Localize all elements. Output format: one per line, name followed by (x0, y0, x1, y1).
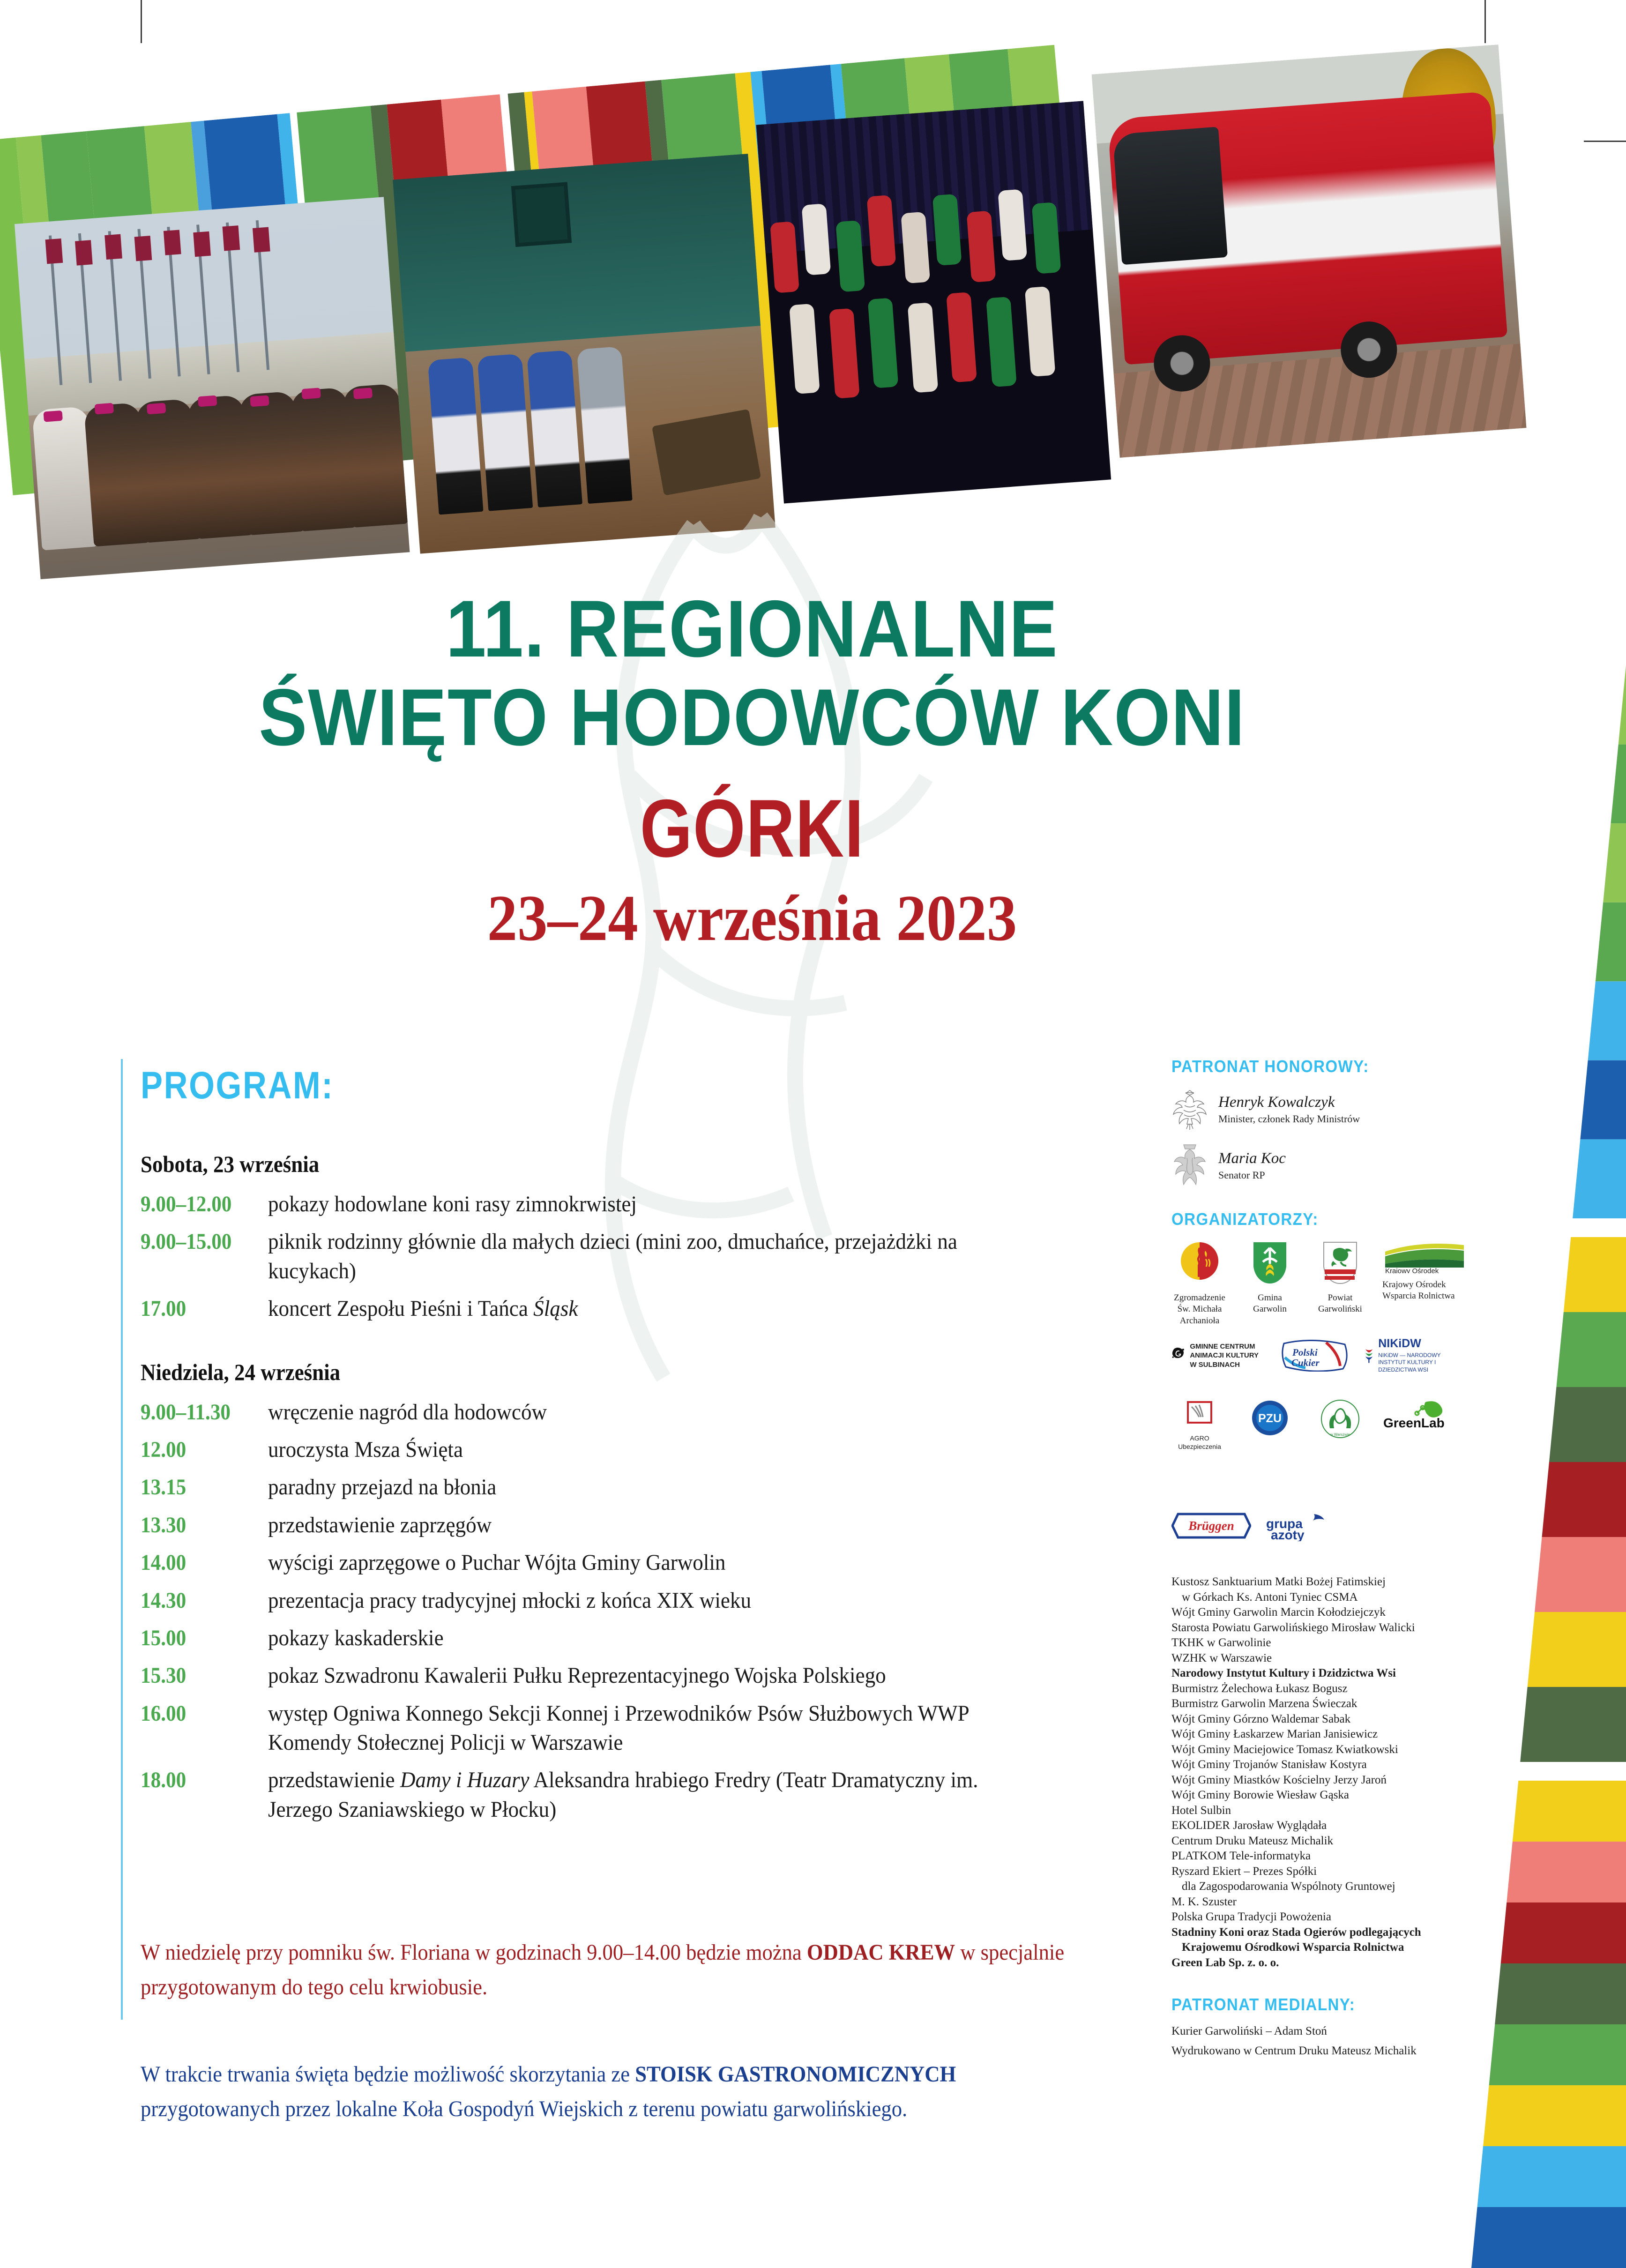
sponsor-item: Stadniny Koni oraz Stada Ogierów podlega… (1171, 1925, 1481, 1940)
polski-cukier-logo-icon: Polski Cukier (1279, 1337, 1350, 1372)
organizers-heading: ORGANIZATORZY: (1171, 1209, 1456, 1229)
wedge-stripe (1542, 1462, 1626, 1537)
program-time: 9.00–12.00 (141, 1191, 255, 1217)
patron-maria-koc: Maria Koc Senator RP (1171, 1140, 1481, 1191)
sponsor-item: Burmistrz Żelechowa Łukasz Bogusz (1171, 1681, 1481, 1697)
organizer-logo-kowr: Krajowy Ośrodek Krajowy Ośrodek Wsparcia… (1382, 1239, 1467, 1302)
wedge-stripe (1513, 1781, 1626, 1842)
pzu-logo-icon: PZU (1250, 1399, 1290, 1437)
patron-name: Maria Koc (1218, 1150, 1286, 1167)
sponsor-item: Polska Grupa Tradycji Powożenia (1171, 1910, 1481, 1925)
sponsor-item: Wójt Gminy Łaskarzew Marian Janisiewicz (1171, 1727, 1481, 1742)
organizer-logo-row-4: Brüggen Brüggen grupa azoty GRUPA AZOTY (1171, 1512, 1481, 1559)
program-text: przedstawienie Damy i Huzary Aleksandra … (268, 1766, 1038, 1824)
program-text: wręczenie nagród dla hodowców (268, 1398, 547, 1427)
program-text: koncert Zespołu Pieśni i Tańca Śląsk (268, 1294, 578, 1323)
program-time: 15.00 (141, 1625, 255, 1651)
wedge-stripe (1528, 1612, 1626, 1687)
organizer-logo-gmina-garwolin: GminaGarwolin (1242, 1239, 1298, 1315)
gastronomy-note: W trakcie trwania święta będzie możliwoś… (141, 2057, 1065, 2127)
program-time: 14.00 (141, 1550, 255, 1575)
svg-text:Polski: Polski (1292, 1347, 1318, 1358)
patron-role: Minister, członek Rady Ministrów (1218, 1113, 1360, 1125)
program-text: przedstawienie zaprzęgów (268, 1511, 492, 1540)
sponsor-item: Wójt Gminy Miastków Kościelny Jerzy Jaro… (1171, 1773, 1481, 1788)
sponsor-item: dla Zagospodarowania Wspólnoty Gruntowej (1171, 1879, 1481, 1895)
theatre-play-photo (393, 154, 776, 554)
program-time: 15.30 (141, 1663, 255, 1688)
organizer-logo-bruggen: Brüggen Brüggen (1171, 1512, 1251, 1557)
patron-henryk-kowalczyk: Henryk Kowalczyk Minister, członek Rady … (1171, 1087, 1481, 1132)
program-day-heading: Niedziela, 24 września (141, 1358, 992, 1386)
blood-donation-note: W niedzielę przy pomniku św. Floriana w … (141, 1935, 1065, 2005)
sponsor-item: M. K. Szuster (1171, 1895, 1481, 1910)
sponsor-item: TKHK w Garwolinie (1171, 1635, 1481, 1651)
organizer-logo-row-2: GMINNE CENTRUM ANIMACJI KULTURY W SULBIN… (1171, 1337, 1481, 1389)
sponsor-item: Green Lab Sp. z. o. o. (1171, 1955, 1481, 1971)
gastro-note-emphasis: STOISK GASTRONOMICZNYCH (635, 2062, 956, 2087)
wedge-stripe (1549, 1387, 1626, 1462)
organizer-caption: Krajowy Ośrodek Wsparcia Rolnictwa (1382, 1279, 1467, 1302)
program-time: 13.15 (141, 1474, 255, 1500)
wedge-stripe (1564, 1237, 1626, 1312)
program-row: 14.30prezentacja pracy tradycyjnej młock… (141, 1586, 1087, 1615)
blood-note-emphasis: ODDAC KREW (807, 1940, 955, 1965)
organizer-caption: NIKiDW — NARODOWY INSTYTUT KULTURY I DZI… (1378, 1352, 1462, 1373)
program-text: występ Ogniwa Konnego Sekcji Konnej i Pr… (268, 1699, 1038, 1758)
title-place: GÓRKI (135, 782, 1369, 876)
title-line-2: ŚWIĘTO HODOWCÓW KONI (75, 677, 1429, 759)
honorary-patronage-heading: PATRONAT HONOROWY: (1171, 1057, 1456, 1076)
gmina-garwolin-crest-icon (1250, 1239, 1290, 1286)
media-patronage-block: PATRONAT MEDIALNY: Kurier Garwoliński – … (1171, 1995, 1481, 2058)
program-row: 16.00występ Ogniwa Konnego Sekcji Konnej… (141, 1699, 1087, 1758)
wedge-stripe (1573, 1139, 1626, 1218)
wedge-stripe (1495, 1963, 1626, 2024)
organizer-caption: GMINNE CENTRUM ANIMACJI KULTURY W SULBIN… (1190, 1342, 1265, 1369)
folk-dance-ensemble-photo (756, 101, 1111, 503)
wedge-stripe (1580, 1060, 1626, 1140)
sponsor-item: EKOLIDER Jarosław Wyglądała (1171, 1818, 1481, 1834)
organizer-logo-michaelite: ZgromadzenieŚw. MichałaArchanioła (1171, 1239, 1228, 1327)
program-day-heading: Sobota, 23 września (141, 1150, 992, 1178)
agro-ubezpieczenia-logo-icon (1181, 1399, 1218, 1428)
sponsor-item: Kustosz Sanktuarium Matki Bożej Fatimski… (1171, 1574, 1481, 1590)
senate-eagle-icon (1171, 1140, 1208, 1191)
wedge-stripe (1596, 903, 1626, 982)
sponsor-item: Burmistrz Garwolin Marzena Świeczak (1171, 1696, 1481, 1712)
sponsor-item: Wójt Gminy Borowie Wiesław Gąska (1171, 1788, 1481, 1803)
organizer-caption: PowiatGarwoliński (1312, 1292, 1368, 1315)
organizer-logo-nikidw: NIKiDW NIKiDW — NARODOWY INSTYTUT KULTUR… (1364, 1337, 1462, 1373)
organizer-logo-polski-cukier: Polski Cukier Polski Cukier (1279, 1337, 1350, 1389)
bruggen-logo-icon: Brüggen (1171, 1512, 1251, 1539)
sponsor-item: Ryszard Ekiert – Prezes Spółki (1171, 1864, 1481, 1880)
wedge-stripe (1611, 745, 1626, 824)
organizer-caption: GminaGarwolin (1242, 1292, 1298, 1315)
sponsor-list: Kustosz Sanktuarium Matki Bożej Fatimski… (1171, 1574, 1481, 1970)
program-time: 12.00 (141, 1437, 255, 1462)
program-time: 13.30 (141, 1512, 255, 1538)
program-time: 16.00 (141, 1701, 255, 1726)
sponsor-item: Narodowy Instytut Kultury i Dzidzictwa W… (1171, 1666, 1481, 1681)
svg-text:azoty: azoty (1271, 1528, 1305, 1541)
program-row: 9.00–15.00piknik rodzinny głównie dla ma… (141, 1227, 1087, 1286)
organizer-logo-greenlab: GreenLab GreenLab (1382, 1399, 1453, 1447)
sponsor-item: WZHK w Warszawie (1171, 1651, 1481, 1666)
program-text: prezentacja pracy tradycyjnej młocki z k… (268, 1586, 751, 1615)
program-row: 12.00uroczysta Msza Święta (141, 1435, 1087, 1464)
program-time: 18.00 (141, 1767, 255, 1793)
media-item: Wydrukowano w Centrum Druku Mateusz Mich… (1171, 2044, 1481, 2058)
michaelite-crest-icon (1179, 1239, 1220, 1286)
svg-text:Brüggen: Brüggen (1188, 1519, 1234, 1533)
media-item: Kurier Garwoliński – Adam Stoń (1171, 2025, 1481, 2038)
svg-text:GreenLab: GreenLab (1383, 1416, 1445, 1429)
wedge-stripe (1520, 1687, 1626, 1762)
patron-name: Henryk Kowalczyk (1218, 1094, 1360, 1111)
program-time: 14.30 (141, 1588, 255, 1613)
sponsor-item: Wójt Gminy Maciejowice Tomasz Kwiatkowsk… (1171, 1742, 1481, 1758)
wedge-stripe (1477, 2146, 1626, 2207)
sponsor-item: Wójt Gminy Górzno Waldemar Sabak (1171, 1712, 1481, 1727)
program-text: uroczysta Msza Święta (268, 1435, 463, 1464)
wedge-stripe (1603, 823, 1626, 903)
wedge-stripe (1619, 665, 1626, 745)
program-row: 17.00koncert Zespołu Pieśni i Tańca Śląs… (141, 1294, 1087, 1323)
kowr-logo-icon: Krajowy Ośrodek (1382, 1239, 1467, 1273)
program-heading: PROGRAM: (141, 1064, 334, 1108)
decorative-right-wedge (1457, 0, 1626, 2268)
organizer-logo-wzhk: w Warszwie Wojewódzki Związek Hodowców K… (1312, 1399, 1368, 1502)
program-list: Sobota, 23 września9.00–12.00pokazy hodo… (141, 1150, 1087, 1833)
grupa-azoty-logo-icon: grupa azoty (1265, 1512, 1340, 1541)
organizer-caption: AGRO Ubezpieczenia (1171, 1434, 1228, 1451)
svg-text:w Warszwie: w Warszwie (1330, 1432, 1350, 1437)
sponsor-item: Wójt Gminy Trojanów Stanisław Kostyra (1171, 1757, 1481, 1773)
sponsor-item: Krajowemu Ośrodkowi Wsparcia Rolnictwa (1171, 1940, 1481, 1955)
cavalry-parade-photo (15, 197, 410, 579)
wedge-stripe (1501, 1902, 1626, 1963)
organizer-logo-grupa-azoty: grupa azoty GRUPA AZOTY (1265, 1512, 1340, 1559)
organizer-logo-gcak: GMINNE CENTRUM ANIMACJI KULTURY W SULBIN… (1171, 1337, 1265, 1371)
title-date: 23–24 września 2023 (60, 880, 1444, 956)
sidebar: PATRONAT HONOROWY: Henryk Kowalczyk Mini… (1171, 1057, 1481, 2058)
poster-title-block: 11. REGIONALNE ŚWIĘTO HODOWCÓW KONI GÓRK… (0, 588, 1504, 956)
nikidw-logo-icon (1364, 1338, 1374, 1372)
program-text: pokazy hodowlane koni rasy zimnokrwistej (268, 1190, 637, 1219)
wedge-stripe (1471, 2207, 1626, 2268)
patron-role: Senator RP (1218, 1169, 1286, 1181)
svg-text:PZU: PZU (1258, 1412, 1282, 1425)
crop-mark-top-left-v (141, 0, 142, 43)
wedge-stripe (1588, 981, 1626, 1060)
program-text: pokazy kaskaderskie (268, 1624, 444, 1653)
program-text: wyścigi zaprzęgowe o Puchar Wójta Gminy … (268, 1548, 725, 1577)
organizer-logo-pzu: PZU PZU (1242, 1399, 1298, 1454)
nikidw-wordmark: NIKiDW (1378, 1337, 1462, 1350)
svg-text:Krajowy Ośrodek: Krajowy Ośrodek (1385, 1267, 1439, 1273)
wzhk-horse-logo-icon: w Warszwie (1320, 1399, 1361, 1439)
wedge-stripe (1556, 1312, 1626, 1387)
wedge-stripe (1535, 1537, 1626, 1612)
sponsor-item: Wójt Gminy Garwolin Marcin Kołodziejczyk (1171, 1605, 1481, 1620)
program-time: 17.00 (141, 1296, 255, 1321)
program-row: 15.30pokaz Szwadronu Kawalerii Pułku Rep… (141, 1661, 1087, 1690)
powiat-garwolinski-crest-icon (1320, 1239, 1360, 1286)
sponsor-item: Starosta Powiatu Garwolińskiego Mirosław… (1171, 1620, 1481, 1636)
organizer-logo-row-1: ZgromadzenieŚw. MichałaArchanioła GminaG… (1171, 1239, 1481, 1327)
sponsor-item: Hotel Sulbin (1171, 1803, 1481, 1819)
sponsor-item: PLATKOM Tele-informatyka (1171, 1849, 1481, 1864)
organizer-logo-powiat-garwolinski: PowiatGarwoliński (1312, 1239, 1368, 1315)
wedge-stripe (1483, 2085, 1626, 2146)
svg-text:Cukier: Cukier (1291, 1357, 1320, 1368)
program-vertical-rule (121, 1059, 123, 2020)
organizer-logo-agro: AGRO Ubezpieczenia (1171, 1399, 1228, 1451)
greenlab-logo-icon: GreenLab (1382, 1399, 1453, 1429)
wedge-stripe (1489, 2024, 1626, 2085)
title-line-1: 11. REGIONALNE (75, 588, 1429, 670)
gcak-sulbiny-logo-icon (1171, 1337, 1186, 1371)
wedge-stripe (1507, 1842, 1626, 1902)
program-row: 15.00pokazy kaskaderskie (141, 1624, 1087, 1653)
sponsor-item: Centrum Druku Mateusz Michalik (1171, 1834, 1481, 1849)
organizer-caption: ZgromadzenieŚw. MichałaArchanioła (1171, 1292, 1228, 1327)
program-row: 14.00wyścigi zaprzęgowe o Puchar Wójta G… (141, 1548, 1087, 1577)
program-row: 9.00–11.30wręczenie nagród dla hodowców (141, 1398, 1087, 1427)
program-text: piknik rodzinny głównie dla małych dziec… (268, 1227, 1038, 1286)
media-patronage-heading: PATRONAT MEDIALNY: (1171, 1995, 1456, 2014)
program-row: 18.00przedstawienie Damy i Huzary Aleksa… (141, 1766, 1087, 1824)
program-text: paradny przejazd na błonia (268, 1473, 496, 1502)
program-row: 9.00–12.00pokazy hodowlane koni rasy zim… (141, 1190, 1087, 1219)
program-row: 13.30przedstawienie zaprzęgów (141, 1511, 1087, 1540)
program-text: pokaz Szwadronu Kawalerii Pułku Reprezen… (268, 1661, 886, 1690)
organizer-logo-row-3: AGRO Ubezpieczenia PZU PZU w Warszwie Wo… (1171, 1399, 1481, 1502)
program-time: 9.00–15.00 (141, 1229, 255, 1254)
program-time: 9.00–11.30 (141, 1399, 255, 1425)
program-row: 13.15paradny przejazd na błonia (141, 1473, 1087, 1502)
polish-eagle-outline-icon (1171, 1087, 1208, 1132)
sponsor-item: w Górkach Ks. Antoni Tyniec CSMA (1171, 1590, 1481, 1605)
